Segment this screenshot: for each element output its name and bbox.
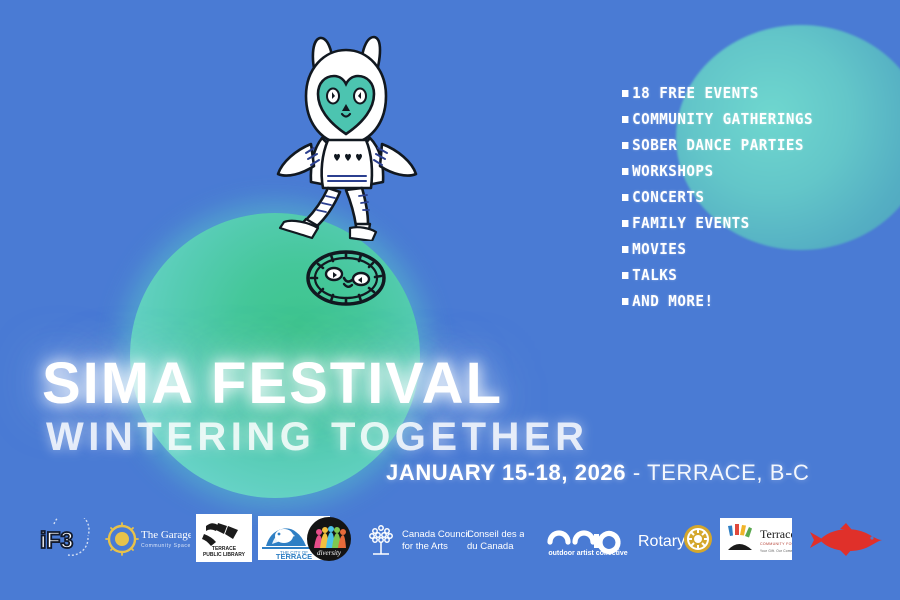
square-bullet-icon <box>622 298 628 305</box>
square-bullet-icon <box>622 272 628 279</box>
svg-text:Canada Council: Canada Council <box>402 529 470 540</box>
svg-text:The Garage: The Garage <box>141 529 191 541</box>
svg-text:for the Arts: for the Arts <box>402 541 448 552</box>
sponsor-logo-terrace-community-foundation: Terrace COMMUNITY FOUNDATION Your Gift. … <box>720 518 792 560</box>
svg-text:iF3: iF3 <box>40 527 73 553</box>
list-item: 18 FREE EVENTS <box>622 86 870 102</box>
festival-badge-icon <box>304 248 388 308</box>
square-bullet-icon <box>622 194 628 201</box>
square-bullet-icon <box>622 220 628 227</box>
sponsor-logo-the-garage: The Garage Community Space <box>105 520 191 558</box>
festival-location: - TERRACE, B-C <box>633 460 810 485</box>
sponsor-logo-row: iF3 The Garage Community Space <box>0 508 900 570</box>
list-item-label: MOVIES <box>632 242 686 258</box>
sponsor-logo-diversity: diversity <box>306 516 352 562</box>
list-item-label: TALKS <box>632 268 677 284</box>
sponsor-logo-if3: iF3 <box>28 518 100 560</box>
date-location-line: JANUARY 15-18, 2026 - TERRACE, B-C <box>386 462 810 484</box>
square-bullet-icon <box>622 90 628 97</box>
svg-text:PUBLIC LIBRARY: PUBLIC LIBRARY <box>203 552 246 558</box>
list-item-label: AND MORE! <box>632 294 713 310</box>
page-title: SIMA FESTIVAL <box>42 355 503 413</box>
svg-text:du Canada: du Canada <box>467 541 514 552</box>
list-item: FAMILY EVENTS <box>622 216 870 232</box>
list-item: AND MORE! <box>622 294 870 310</box>
list-item-label: SOBER DANCE PARTIES <box>632 138 804 154</box>
svg-text:Rotary: Rotary <box>638 533 685 550</box>
list-item-label: 18 FREE EVENTS <box>632 86 759 102</box>
sponsor-logo-outdoor-artist-collective: outdoor artist collective <box>542 520 634 558</box>
list-item-label: CONCERTS <box>632 190 704 206</box>
list-item: COMMUNITY GATHERINGS <box>622 112 870 128</box>
list-item: WORKSHOPS <box>622 164 870 180</box>
svg-text:diversity: diversity <box>317 549 342 557</box>
svg-text:Conseil des arts: Conseil des arts <box>467 529 524 540</box>
svg-text:Your Gift. Our Community. Your: Your Gift. Our Community. Your Legacy. <box>760 549 792 553</box>
sponsor-logo-canada-council: Canada Council for the Arts Conseil des … <box>364 520 524 560</box>
list-item-label: WORKSHOPS <box>632 164 713 180</box>
svg-text:outdoor artist collective: outdoor artist collective <box>548 550 627 557</box>
list-item: SOBER DANCE PARTIES <box>622 138 870 154</box>
list-item: CONCERTS <box>622 190 870 206</box>
svg-text:Terrace: Terrace <box>760 527 792 541</box>
square-bullet-icon <box>622 246 628 253</box>
svg-text:Community Space: Community Space <box>141 543 191 549</box>
square-bullet-icon <box>622 168 628 175</box>
sponsor-logo-rotary: Rotary <box>636 520 716 558</box>
list-item-label: COMMUNITY GATHERINGS <box>632 112 813 128</box>
festival-date: JANUARY 15-18, 2026 <box>386 460 626 485</box>
svg-text:COMMUNITY FOUNDATION: COMMUNITY FOUNDATION <box>760 542 792 546</box>
event-list: 18 FREE EVENTS COMMUNITY GATHERINGS SOBE… <box>622 86 892 320</box>
page-subtitle: WINTERING TOGETHER <box>46 417 588 457</box>
list-item-label: FAMILY EVENTS <box>632 216 750 232</box>
sponsor-logo-terrace-public-library: TERRACE PUBLIC LIBRARY <box>196 514 252 562</box>
square-bullet-icon <box>622 116 628 123</box>
square-bullet-icon <box>622 142 628 149</box>
sponsor-logo-salmon <box>806 520 886 558</box>
list-item: MOVIES <box>622 242 870 258</box>
skiing-bunny-mascot-icon <box>262 26 432 241</box>
list-item: TALKS <box>622 268 870 284</box>
festival-poster: 18 FREE EVENTS COMMUNITY GATHERINGS SOBE… <box>0 0 900 600</box>
